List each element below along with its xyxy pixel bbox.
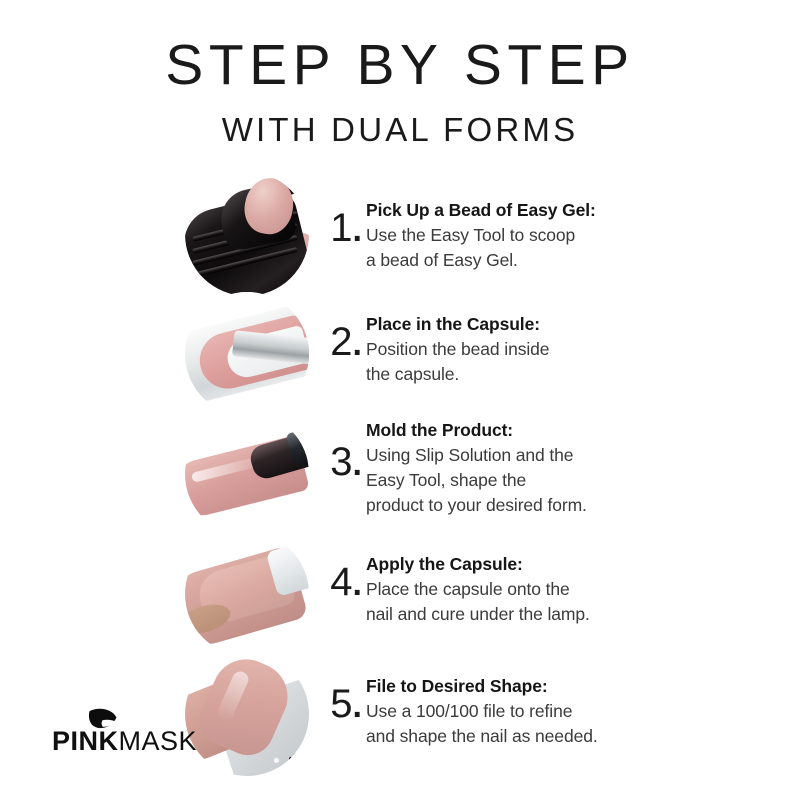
step-body-line: Use the Easy Tool to scoop: [366, 223, 696, 248]
step-photo-2: [185, 292, 309, 416]
step-text-3: Mold the Product: Using Slip Solution an…: [366, 418, 696, 517]
page-subtitle: WITH DUAL FORMS: [0, 112, 800, 148]
step-photo-1: [185, 172, 309, 296]
step-text-5: File to Desired Shape: Use a 100/100 fil…: [366, 674, 696, 749]
step-title: Apply the Capsule:: [366, 552, 696, 577]
step-text-4: Apply the Capsule: Place the capsule ont…: [366, 552, 696, 627]
step-title: Pick Up a Bead of Easy Gel:: [366, 198, 696, 223]
step-title: Mold the Product:: [366, 418, 696, 443]
step-body-line: and shape the nail as needed.: [366, 724, 696, 749]
step-body-line: nail and cure under the lamp.: [366, 602, 696, 627]
step-photo-3: [185, 412, 309, 536]
step-title: File to Desired Shape:: [366, 674, 696, 699]
step-number-2: 2.: [318, 322, 362, 362]
step-body-line: Use a 100/100 file to refine: [366, 699, 696, 724]
step-body-line: Easy Tool, shape the: [366, 468, 696, 493]
brand-mask: MASK: [119, 726, 198, 756]
step-photo-4: [185, 532, 309, 656]
step-body-line: Place the capsule onto the: [366, 577, 696, 602]
step-text-1: Pick Up a Bead of Easy Gel: Use the Easy…: [366, 198, 696, 273]
brand-wordmark: PINKMASK: [52, 728, 197, 755]
step-number-1: 1.: [318, 208, 362, 248]
page-title: STEP BY STEP: [0, 36, 800, 96]
step-title: Place in the Capsule:: [366, 312, 696, 337]
file-grit-label: 100/100: [286, 737, 309, 766]
step-item: 4. Apply the Capsule: Place the capsule …: [0, 532, 800, 652]
step-item: 1. Pick Up a Bead of Easy Gel: Use the E…: [0, 172, 800, 292]
step-body-line: a bead of Easy Gel.: [366, 248, 696, 273]
brand-pink: PINK: [52, 726, 119, 756]
step-body-line: product to your desired form.: [366, 493, 696, 518]
brand-logo: PINKMASK: [52, 706, 242, 770]
step-text-2: Place in the Capsule: Position the bead …: [366, 312, 696, 387]
step-number-3: 3.: [318, 442, 362, 482]
page-header: STEP BY STEP WITH DUAL FORMS: [0, 0, 800, 148]
step-body-line: Position the bead inside: [366, 337, 696, 362]
step-body-line: Using Slip Solution and the: [366, 443, 696, 468]
step-number-4: 4.: [318, 562, 362, 602]
steps-list: 1. Pick Up a Bead of Easy Gel: Use the E…: [0, 172, 800, 772]
step-item: 2. Place in the Capsule: Position the be…: [0, 292, 800, 412]
step-body-line: the capsule.: [366, 362, 696, 387]
step-item: 3. Mold the Product: Using Slip Solution…: [0, 412, 800, 532]
step-number-5: 5.: [318, 684, 362, 724]
